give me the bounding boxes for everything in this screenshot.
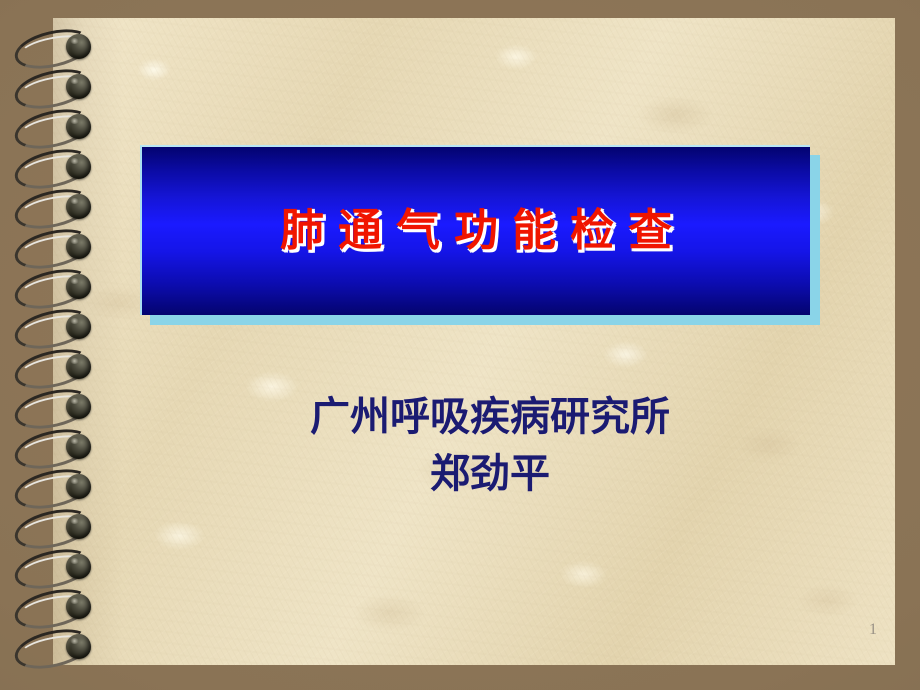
paper-binding-shadow bbox=[53, 18, 123, 665]
slide-canvas: 肺通气功能检查 广州呼吸疾病研究所 郑劲平 1 bbox=[0, 0, 920, 690]
title-plaque: 肺通气功能检查 bbox=[140, 145, 810, 315]
slide-title: 肺通气功能检查 bbox=[266, 209, 686, 253]
paper-sheet bbox=[53, 18, 895, 665]
subtitle-line-institution: 广州呼吸疾病研究所 bbox=[150, 388, 830, 445]
subtitle-block: 广州呼吸疾病研究所 郑劲平 bbox=[150, 388, 830, 502]
page-number: 1 bbox=[862, 620, 884, 640]
subtitle-line-author: 郑劲平 bbox=[150, 445, 830, 502]
paper-texture-overlay bbox=[53, 18, 895, 665]
